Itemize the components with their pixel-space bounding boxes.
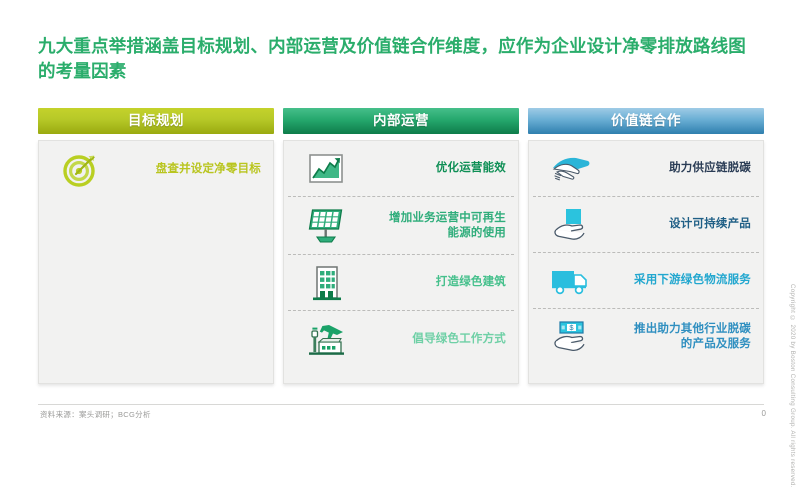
measure-label: 设计可持续产品 xyxy=(599,217,751,232)
growth-chart-icon xyxy=(298,151,354,187)
measure-row[interactable]: 打造绿色建筑 xyxy=(288,255,514,311)
measure-label: 优化运营能效 xyxy=(354,161,506,176)
pillar-header-goal-planning[interactable]: 目标规划 xyxy=(38,108,274,134)
measure-label: 采用下游绿色物流服务 xyxy=(599,273,751,288)
pillars-container: 目标规划 盘查并设定净零目标 xyxy=(38,108,764,384)
slide-canvas: 九大重点举措涵盖目标规划、内部运营及价值链合作维度，应作为企业设计净零排放路线图… xyxy=(0,0,800,450)
footer-divider xyxy=(38,404,764,405)
solar-panel-icon xyxy=(298,207,354,245)
airport-plane-icon xyxy=(298,320,354,358)
page-number: 0 xyxy=(762,409,766,418)
pillar-column-internal-operations: 内部运营 优化运营能效 xyxy=(283,108,519,384)
measure-row[interactable]: 采用下游绿色物流服务 xyxy=(533,253,759,309)
source-note: 资料来源：案头调研；BCG分析 xyxy=(40,409,151,420)
pillar-body-goal-planning: 盘查并设定净零目标 xyxy=(38,140,274,384)
column-empty-space xyxy=(43,197,269,383)
measure-label: 倡导绿色工作方式 xyxy=(354,332,506,347)
measure-row[interactable]: 倡导绿色工作方式 xyxy=(288,311,514,367)
measure-row[interactable]: 助力供应链脱碳 xyxy=(533,141,759,197)
pillar-header-internal-operations[interactable]: 内部运营 xyxy=(283,108,519,134)
page-title: 九大重点举措涵盖目标规划、内部运营及价值链合作维度，应作为企业设计净零排放路线图… xyxy=(38,34,748,84)
pillar-column-goal-planning: 目标规划 盘查并设定净零目标 xyxy=(38,108,274,384)
measure-row[interactable]: $ 推出助力其他行业脱碳 的产品及服务 xyxy=(533,309,759,365)
measure-label: 推出助力其他行业脱碳 的产品及服务 xyxy=(599,322,751,352)
measure-row[interactable]: 优化运营能效 xyxy=(288,141,514,197)
handshake-icon xyxy=(543,151,599,187)
measure-row[interactable]: 盘查并设定净零目标 xyxy=(43,141,269,197)
measure-row[interactable]: 设计可持续产品 xyxy=(533,197,759,253)
measure-label: 助力供应链脱碳 xyxy=(599,161,751,176)
target-arrow-icon xyxy=(53,149,109,189)
delivery-truck-icon xyxy=(543,265,599,297)
green-building-icon xyxy=(298,264,354,302)
pillar-body-value-chain: 助力供应链脱碳 设计可持续产品 xyxy=(528,140,764,384)
copyright-notice: Copyright © 2020 by Boston Consulting Gr… xyxy=(789,284,796,488)
measure-label: 盘查并设定净零目标 xyxy=(109,162,261,177)
pillar-column-value-chain: 价值链合作 xyxy=(528,108,764,384)
pillar-header-value-chain[interactable]: 价值链合作 xyxy=(528,108,764,134)
pillar-body-internal-operations: 优化运营能效 xyxy=(283,140,519,384)
hand-holding-box-icon xyxy=(543,206,599,244)
measure-label: 增加业务运营中可再生 能源的使用 xyxy=(354,211,506,241)
hand-holding-money-icon: $ xyxy=(543,318,599,356)
measure-label: 打造绿色建筑 xyxy=(354,275,506,290)
measure-row[interactable]: 增加业务运营中可再生 能源的使用 xyxy=(288,197,514,255)
